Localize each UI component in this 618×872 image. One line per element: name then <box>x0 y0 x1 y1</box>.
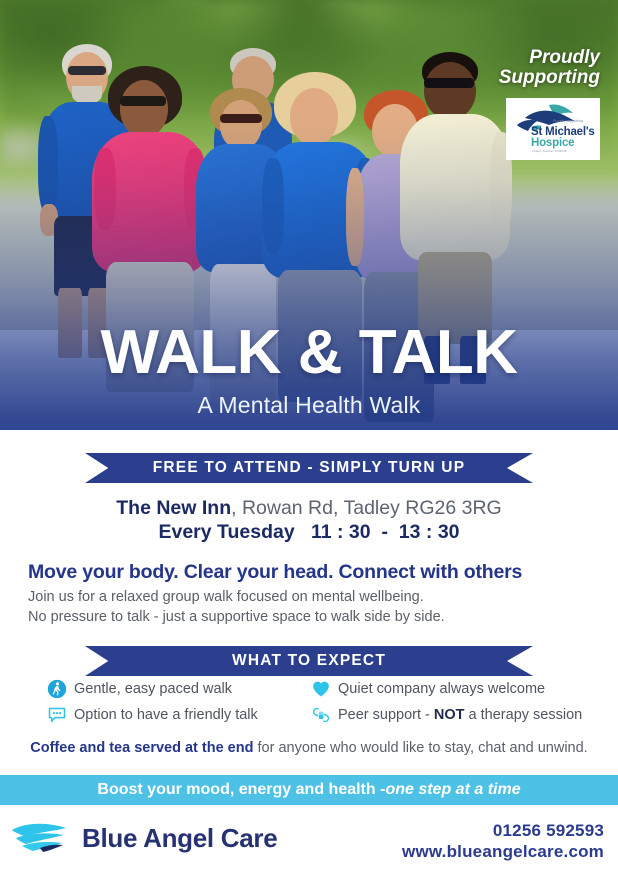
schedule-time-separator: - <box>381 521 388 543</box>
closing-note-bold: Coffee and tea served at the end <box>30 740 253 756</box>
walker-woman-pink-top <box>92 66 210 330</box>
peer-support-not-emphasis: NOT <box>434 707 465 723</box>
hospice-micro-top: Proudly supporting <box>553 119 583 123</box>
expect-item-peer-support-label: Peer support - NOT a therapy session <box>338 707 582 723</box>
expect-item-gentle-walk: Gentle, easy paced walk <box>47 679 232 699</box>
hero-section: Proudly Supporting Proudly supporting St… <box>0 0 618 430</box>
free-to-attend-label: FREE TO ATTEND - SIMPLY TURN UP <box>153 459 466 477</box>
expect-item-gentle-walk-label: Gentle, easy paced walk <box>74 681 232 697</box>
page-subtitle: A Mental Health Walk <box>0 392 618 419</box>
schedule-end-time: 13 : 30 <box>399 521 460 543</box>
st-michaels-hospice-logo: Proudly supporting St Michael's Hospice … <box>506 98 600 160</box>
schedule-start-time: 11 : 30 <box>311 521 371 543</box>
schedule-line: Every Tuesday 11 : 30 - 13 : 30 <box>0 521 618 544</box>
proudly-line-1: Proudly <box>470 48 600 68</box>
closing-note: Coffee and tea served at the end for any… <box>12 740 606 756</box>
blue-angel-care-logo: Blue Angel Care <box>10 820 277 856</box>
brand-name: Blue Angel Care <box>82 823 277 854</box>
contact-website[interactable]: www.blueangelcare.com <box>402 841 604 862</box>
heart-icon <box>311 679 331 699</box>
peer-support-text-after: a therapy session <box>465 707 583 723</box>
hospice-charity-number: Charity Number 1063538 <box>532 149 567 153</box>
venue-line: The New Inn, Rowan Rd, Tadley RG26 3RG <box>0 497 618 520</box>
free-to-attend-ribbon: FREE TO ATTEND - SIMPLY TURN UP <box>85 453 533 483</box>
schedule-day: Every Tuesday <box>158 521 294 543</box>
venue-name: The New Inn <box>116 497 231 519</box>
contact-block: 01256 592593 www.blueangelcare.com <box>402 820 604 863</box>
expect-item-friendly-talk-label: Option to have a friendly talk <box>74 707 258 723</box>
what-to-expect-ribbon: WHAT TO EXPECT <box>85 646 533 676</box>
proudly-line-2: Supporting <box>470 68 600 88</box>
motivational-band-italic: one step at a time <box>385 781 520 799</box>
contact-phone[interactable]: 01256 592593 <box>402 820 604 841</box>
expect-item-peer-support: Peer support - NOT a therapy session <box>311 705 582 725</box>
intro-line-2: No pressure to talk - just a supportive … <box>28 609 445 625</box>
poster-root: Proudly Supporting Proudly supporting St… <box>0 0 618 872</box>
proudly-supporting-label: Proudly Supporting <box>470 48 600 88</box>
expect-item-friendly-talk: Option to have a friendly talk <box>47 705 258 725</box>
expect-item-quiet-company-label: Quiet company always welcome <box>338 681 545 697</box>
page-title: WALK & TALK <box>0 322 618 384</box>
intro-line-1: Join us for a relaxed group walk focused… <box>28 589 424 605</box>
angel-wing-icon <box>10 820 74 856</box>
motivational-band: Boost your mood, energy and health - one… <box>0 775 618 805</box>
walking-person-icon <box>47 679 67 699</box>
walker-man-cream-shirt <box>400 52 512 330</box>
venue-address: , Rowan Rd, Tadley RG26 3RG <box>231 497 502 519</box>
intro-headline: Move your body. Clear your head. Connect… <box>28 561 522 584</box>
peer-support-hands-icon <box>311 705 331 725</box>
motivational-band-text: Boost your mood, energy and health - <box>97 781 385 799</box>
closing-note-rest: for anyone who would like to stay, chat … <box>253 740 587 756</box>
peer-support-text-before: Peer support - <box>338 707 434 723</box>
expect-item-quiet-company: Quiet company always welcome <box>311 679 545 699</box>
speech-bubble-icon <box>47 705 67 725</box>
what-to-expect-label: WHAT TO EXPECT <box>232 652 386 670</box>
hospice-name-line-2: Hospice <box>531 137 574 149</box>
